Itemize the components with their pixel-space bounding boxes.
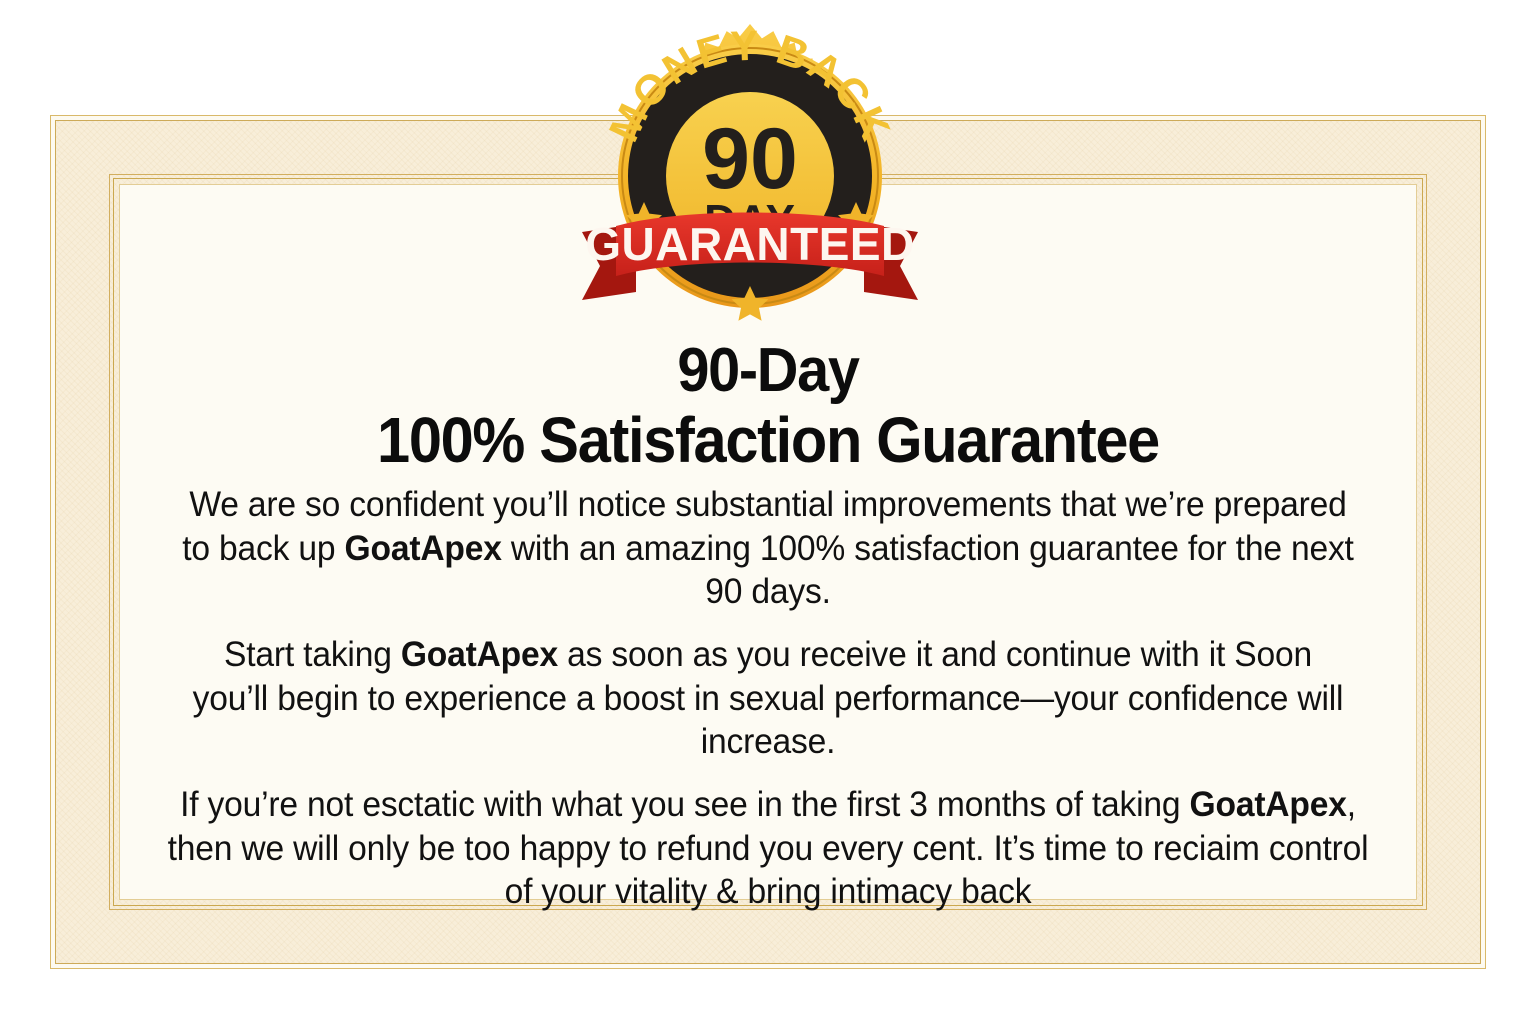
- seal-ribbon-text: GUARANTEED: [585, 218, 915, 270]
- headline-line-1: 90-Day: [175, 336, 1362, 405]
- page-title: 90-Day 100% Satisfaction Guarantee: [175, 336, 1362, 477]
- guarantee-paragraph-2: Start taking GoatApex as soon as you rec…: [156, 633, 1381, 763]
- text-run: If you’re not esctatic with what you see…: [180, 785, 1189, 824]
- text-run: with an amazing 100% satisfaction guaran…: [502, 529, 1354, 611]
- guarantee-paragraph-1: We are so confident you’ll notice substa…: [156, 483, 1381, 613]
- guarantee-text-block: 90-Day 100% Satisfaction Guarantee We ar…: [130, 336, 1406, 914]
- text-run: Start taking: [224, 635, 401, 674]
- seal-number: 90: [702, 111, 798, 207]
- guarantee-certificate: MONEY BACK 90 DAY GUARANTEED 90-Day 100%…: [0, 0, 1536, 1024]
- money-back-guarantee-seal-icon: MONEY BACK 90 DAY GUARANTEED: [572, 8, 928, 328]
- headline-line-2: 100% Satisfaction Guarantee: [175, 405, 1362, 477]
- brand-name: GoatApex: [401, 635, 558, 674]
- brand-name: GoatApex: [345, 529, 502, 568]
- brand-name: GoatApex: [1190, 785, 1347, 824]
- guarantee-paragraph-3: If you’re not esctatic with what you see…: [156, 783, 1381, 913]
